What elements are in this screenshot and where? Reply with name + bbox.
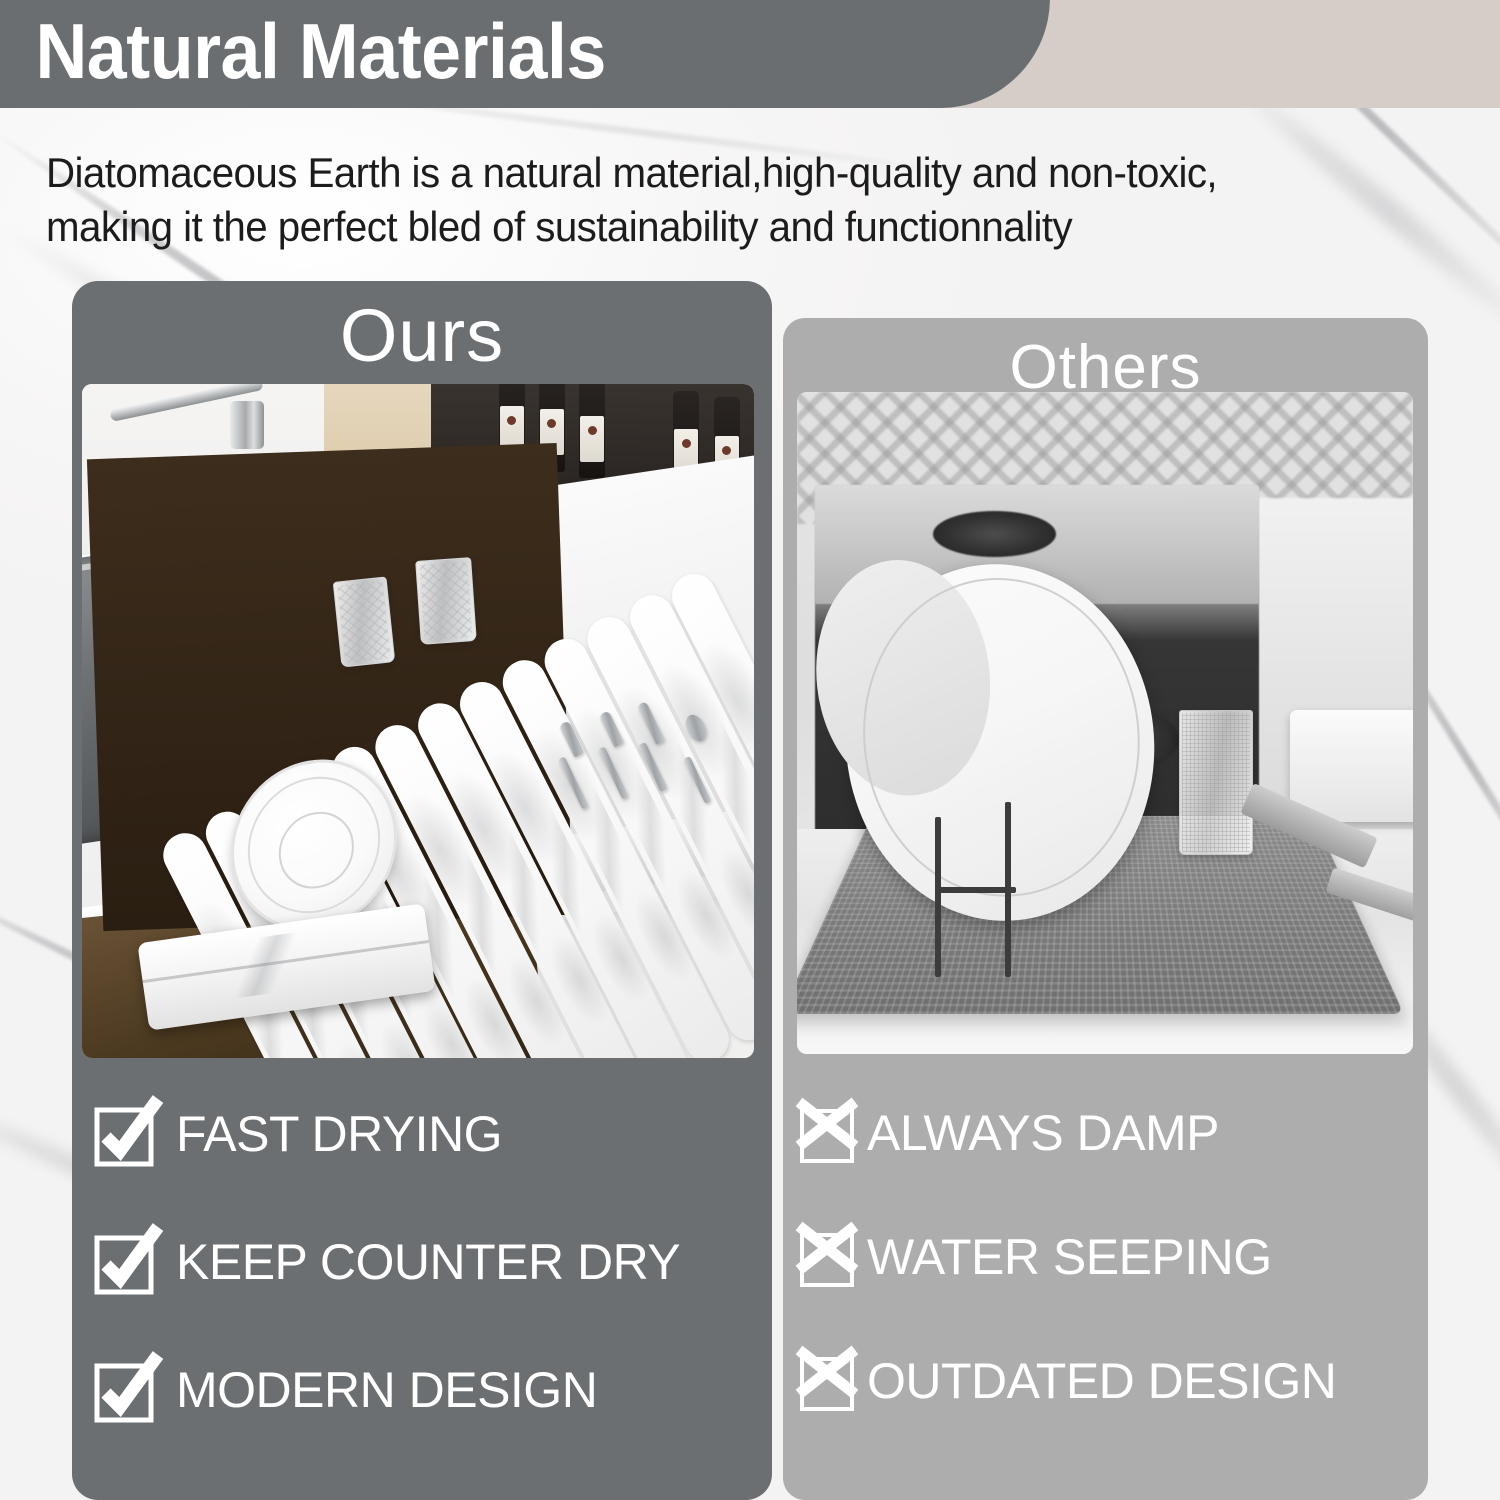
checkbox-checked-icon xyxy=(94,1229,160,1295)
drinking-glass xyxy=(415,557,477,645)
checkbox-crossed-icon xyxy=(799,1102,861,1164)
others-feature-list: ALWAYS DAMP WATER SEEPING xyxy=(783,1102,1428,1474)
checkbox-crossed-icon xyxy=(799,1226,861,1288)
others-product-photo xyxy=(797,392,1413,1054)
description-text: Diatomaceous Earth is a natural material… xyxy=(46,146,1409,254)
ours-feature-row-2: KEEP COUNTER DRY xyxy=(72,1229,772,1295)
others-feature-row-3: OUTDATED DESIGN xyxy=(783,1350,1428,1412)
drinking-glass xyxy=(1179,710,1253,856)
others-heading: Others xyxy=(783,318,1428,403)
others-feature-row-1: ALWAYS DAMP xyxy=(783,1102,1428,1164)
others-feature-label-1: ALWAYS DAMP xyxy=(867,1104,1219,1162)
page-title: Natural Materials xyxy=(0,0,606,97)
drinking-glass xyxy=(333,577,396,668)
checkbox-checked-icon xyxy=(94,1357,160,1423)
description-line-2: making it the perfect bled of sustainabi… xyxy=(46,200,1409,254)
header-banner: Natural Materials xyxy=(0,0,1050,108)
ours-product-photo xyxy=(82,384,754,1058)
checkbox-crossed-icon xyxy=(799,1350,861,1412)
ours-feature-label-3: MODERN DESIGN xyxy=(176,1361,597,1419)
others-feature-label-2: WATER SEEPING xyxy=(867,1228,1272,1286)
cooking-pot xyxy=(1290,710,1413,823)
ours-feature-row-3: MODERN DESIGN xyxy=(72,1357,772,1423)
wire-plate-rack xyxy=(920,802,1105,948)
others-feature-label-3: OUTDATED DESIGN xyxy=(867,1352,1336,1410)
infographic-page: Natural Materials Diatomaceous Earth is … xyxy=(0,0,1500,1500)
ours-feature-list: FAST DRYING KEEP COUNTER DRY xyxy=(72,1101,772,1485)
ours-feature-row-1: FAST DRYING xyxy=(72,1101,772,1167)
checkbox-checked-icon xyxy=(94,1101,160,1167)
others-feature-row-2: WATER SEEPING xyxy=(783,1226,1428,1288)
ours-heading: Ours xyxy=(72,281,772,378)
description-line-1: Diatomaceous Earth is a natural material… xyxy=(46,146,1409,200)
ours-feature-label-2: KEEP COUNTER DRY xyxy=(176,1233,680,1291)
ours-feature-label-1: FAST DRYING xyxy=(176,1105,502,1163)
